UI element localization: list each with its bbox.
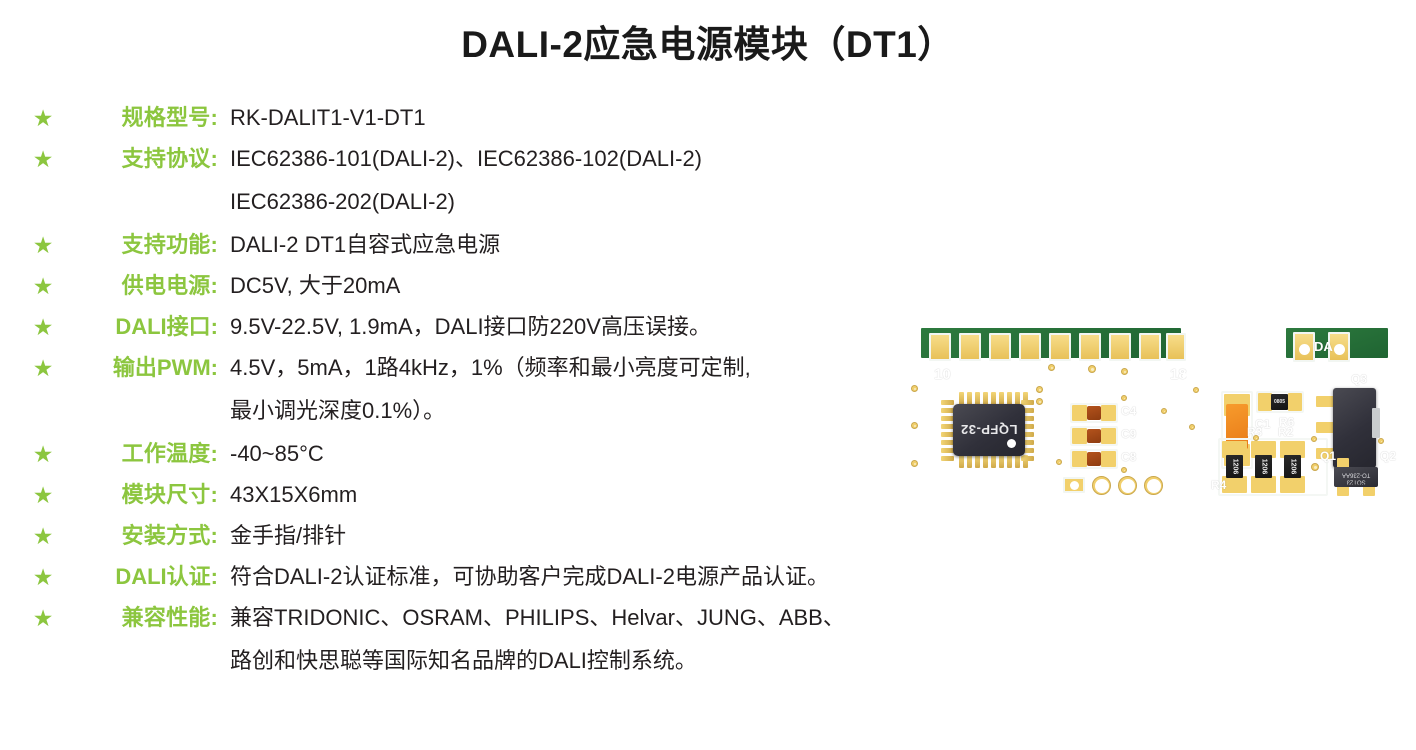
star-icon: ★ [28,269,58,303]
via [911,422,918,429]
via [1253,435,1259,441]
via [911,460,918,467]
designator-q2: Q2 [1380,449,1396,463]
spec-value: 9.5V-22.5V, 1.9mA，DALI接口防220V高压误接。 [230,310,711,344]
silkscreen-pin-10: 10 [934,366,951,383]
spec-row: ★ 供电电源: DC5V, 大于20mA [0,269,1000,303]
res-r6-pad [1258,393,1272,411]
designator-q3: Q3 [1351,372,1367,386]
q3-tab [1372,408,1380,438]
via [1088,365,1096,373]
gold-finger-pad [1109,333,1131,361]
gold-finger-pad [929,333,951,361]
via [1056,459,1062,465]
test-pad-round [1092,476,1111,495]
chip-leads-bottom [959,455,1028,468]
spec-value-line: 43X15X6mm [230,478,357,512]
spec-value-line: 9.5V-22.5V, 1.9mA，DALI接口防220V高压误接。 [230,310,711,344]
gold-finger-pad [1139,333,1161,361]
spec-row: ★ 支持协议: IEC62386-101(DALI-2)、IEC62386-10… [0,142,1000,219]
gold-finger-pad [1166,333,1186,361]
cap-c9-body [1087,429,1101,443]
spec-row: ★ 支持功能: DALI-2 DT1自容式应急电源 [0,228,1000,262]
spec-label: 支持协议: [58,142,218,176]
spec-value: 4.5V，5mA，1路4kHz，1%（频率和最小亮度可定制, 最小调光深度0.1… [230,351,751,428]
spec-row: ★ 安装方式: 金手指/排针 [0,519,1000,553]
spec-value-line: 最小调光深度0.1%）。 [230,394,751,428]
gold-finger-pad [1049,333,1071,361]
via [1189,424,1195,430]
spec-label: 支持功能: [58,228,218,262]
spec-label: 工作温度: [58,437,218,471]
cap-c4-body [1087,406,1101,420]
spec-value-line: 兼容TRIDONIC、OSRAM、PHILIPS、Helvar、JUNG、ABB… [230,601,845,635]
star-icon: ★ [28,228,58,262]
q1-component: SOT23TO-236AA [1334,467,1378,487]
spec-value-line: 4.5V，5mA，1路4kHz，1%（频率和最小亮度可定制, [230,351,751,385]
star-icon: ★ [28,601,58,635]
gold-finger-pad [959,333,981,361]
via [1378,438,1384,444]
spec-value-line: 金手指/排针 [230,519,346,553]
spec-row: ★ 兼容性能: 兼容TRIDONIC、OSRAM、PHILIPS、Helvar、… [0,601,1000,678]
res-r2-body: 1206 [1284,455,1301,478]
spec-value: RK-DALIT1-V1-DT1 [230,101,426,135]
spec-row: ★ 规格型号: RK-DALIT1-V1-DT1 [0,101,1000,135]
via [1036,398,1043,405]
silkscreen-board-name: RK-DALIT1-V1 [1194,370,1210,466]
cap-c9-pad [1072,428,1087,444]
cap-c4-pad [1101,405,1116,421]
star-icon: ★ [28,351,58,385]
res-r6-body: 0805 [1271,394,1288,410]
gold-finger-pad [989,333,1011,361]
res-r4-body: 1206 [1226,455,1243,478]
spec-label: 安装方式: [58,519,218,553]
q3-component [1333,388,1376,468]
star-icon: ★ [28,519,58,553]
star-icon: ★ [28,101,58,135]
designator-q1: Q1 [1320,449,1336,463]
spec-value: -40~85°C [230,437,324,471]
designator-r2: R2 [1278,425,1293,439]
designator-c4: C4 [1121,404,1136,418]
spec-value-line: -40~85°C [230,437,324,471]
spec-value-line: 符合DALI-2认证标准，可协助客户完成DALI-2电源产品认证。 [230,560,829,594]
via [1311,463,1319,471]
spec-label: 规格型号: [58,101,218,135]
spec-row: ★ DALI认证: 符合DALI-2认证标准，可协助客户完成DALI-2电源产品… [0,560,1000,594]
via [1121,395,1127,401]
gold-finger-pad [1079,333,1101,361]
da-pad-hole [1334,344,1345,355]
spec-value-line: DALI-2 DT1自容式应急电源 [230,228,500,262]
polarity-triangle-marker [1164,477,1177,495]
star-icon: ★ [28,310,58,344]
spec-value-line: IEC62386-101(DALI-2)、IEC62386-102(DALI-2… [230,142,702,176]
spec-row: ★ DALI接口: 9.5V-22.5V, 1.9mA，DALI接口防220V高… [0,310,1000,344]
cap-c8-pad [1101,451,1116,467]
res-r2-pad [1280,476,1305,493]
res-r3-pad [1251,476,1276,493]
cap-c9-pad [1101,428,1116,444]
test-pad-round [1118,476,1137,495]
via [1048,364,1055,371]
spec-value: 兼容TRIDONIC、OSRAM、PHILIPS、Helvar、JUNG、ABB… [230,601,845,678]
spec-value-line: 路创和快思聪等国际知名品牌的DALI控制系统。 [230,644,845,678]
spec-value: 金手指/排针 [230,519,346,553]
via [1161,408,1167,414]
spec-value: DC5V, 大于20mA [230,269,400,303]
spec-label: 模块尺寸: [58,478,218,512]
spec-label: DALI认证: [58,560,218,594]
via [1193,387,1199,393]
lqfp32-chip: LQFP-32 [953,404,1025,456]
cap-c8-body [1087,452,1101,466]
star-icon: ★ [28,478,58,512]
star-icon: ★ [28,142,58,176]
spec-value: DALI-2 DT1自容式应急电源 [230,228,500,262]
spec-row: ★ 输出PWM: 4.5V，5mA，1路4kHz，1%（频率和最小亮度可定制, … [0,351,1000,428]
res-r3-body: 1206 [1255,455,1272,478]
pcb-product-image: DA 10 18 RK-DALIT1-V1 2020.03.30 LQFP-32… [893,312,1403,527]
spec-label: 兼容性能: [58,601,218,635]
test-pad-round [1144,476,1163,495]
res-r6-pad [1288,393,1302,411]
silkscreen-da-label: DA [1314,339,1333,354]
spec-label: 输出PWM: [58,351,218,385]
spec-value-line: IEC62386-202(DALI-2) [230,185,702,219]
da-pad-hole [1299,344,1310,355]
test-pad-hole [1070,481,1079,490]
via [1121,368,1128,375]
spec-value-line: RK-DALIT1-V1-DT1 [230,101,426,135]
designator-r4: R4 [1211,478,1226,492]
spec-row: ★ 工作温度: -40~85°C [0,437,1000,471]
chip-pin1-marker [1007,439,1016,448]
page-title: DALI-2应急电源模块（DT1） [0,14,1416,68]
via [1036,386,1043,393]
gold-finger-pad [1019,333,1041,361]
via [911,385,918,392]
spec-label: DALI接口: [58,310,218,344]
star-icon: ★ [28,560,58,594]
cap-c8-pad [1072,451,1087,467]
designator-c8: C8 [1121,450,1136,464]
spec-value: IEC62386-101(DALI-2)、IEC62386-102(DALI-2… [230,142,702,219]
spec-list: ★ 规格型号: RK-DALIT1-V1-DT1 ★ 支持协议: IEC6238… [0,101,1000,687]
spec-value-line: DC5V, 大于20mA [230,269,400,303]
cap-c4-pad [1072,405,1087,421]
spec-label: 供电电源: [58,269,218,303]
chip-label: LQFP-32 [953,404,1025,456]
spec-value: 符合DALI-2认证标准，可协助客户完成DALI-2电源产品认证。 [230,560,829,594]
spec-value: 43X15X6mm [230,478,357,512]
star-icon: ★ [28,437,58,471]
via [1121,467,1127,473]
via [1311,436,1317,442]
designator-c9: C9 [1121,427,1136,441]
spec-row: ★ 模块尺寸: 43X15X6mm [0,478,1000,512]
